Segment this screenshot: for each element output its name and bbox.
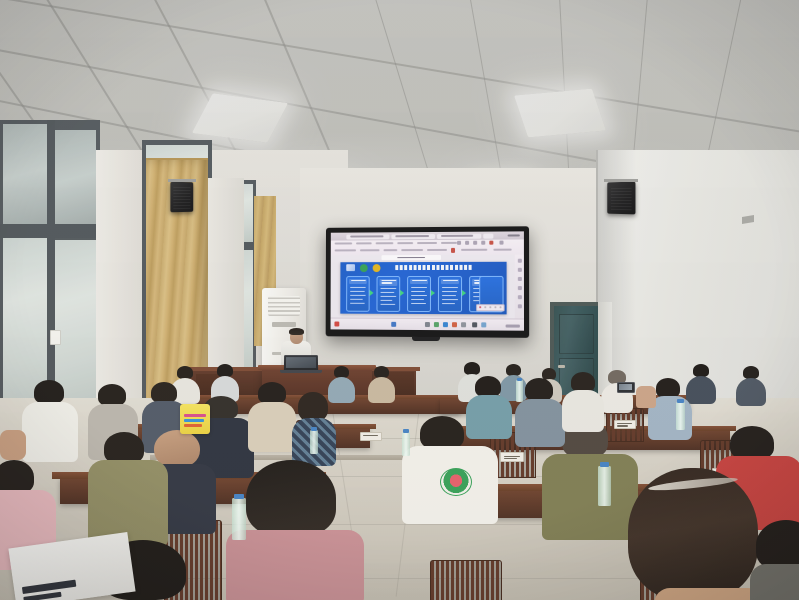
ribbon-icon-5[interactable]	[499, 241, 503, 245]
ribbon-icon-record[interactable]	[489, 241, 493, 245]
flow-arrow-1-icon	[370, 290, 374, 296]
bottle-cap-6	[311, 427, 317, 431]
panel-icon-1[interactable]	[517, 259, 521, 263]
water-bottle-2	[676, 402, 685, 430]
ribbon-icon-3[interactable]	[473, 241, 477, 245]
bottle-cap-4	[234, 494, 244, 499]
door-handle[interactable]	[558, 365, 565, 368]
speaker-bracket-right	[604, 179, 638, 182]
presentation-slide[interactable]	[340, 262, 506, 315]
hand-left-raised	[0, 430, 26, 460]
wall-speaker-right	[607, 182, 635, 215]
taskbar-icon-app3[interactable]	[443, 322, 448, 327]
os-taskbar[interactable]	[331, 318, 524, 331]
taskbar-icon-app4[interactable]	[452, 322, 457, 327]
taskbar-icon-app6[interactable]	[472, 322, 477, 327]
water-bottle-3	[516, 380, 523, 402]
bottle-cap-2	[677, 399, 684, 403]
chair-label-plate-2	[500, 452, 524, 462]
ribbon-icon-highlight[interactable]	[451, 248, 455, 253]
hand-holding-phone	[636, 386, 656, 408]
ac-vent-louvers	[268, 296, 300, 316]
led-wall-display[interactable]	[326, 226, 529, 338]
wall-pillar-left	[96, 150, 142, 400]
display-mount	[412, 337, 440, 341]
shirt-logo-icon	[440, 468, 472, 496]
side-panel[interactable]	[515, 255, 524, 319]
bottle-cap-3	[517, 378, 522, 381]
taskbar-icon-app1[interactable]	[425, 322, 430, 327]
tab-1[interactable]	[346, 234, 389, 239]
water-bottle-4	[232, 498, 246, 540]
presenter-laptop[interactable]	[284, 355, 318, 371]
flow-box-1	[346, 276, 370, 312]
ribbon-toolbar[interactable]	[331, 239, 524, 255]
window-wall-left	[0, 120, 100, 420]
water-bottle-1	[598, 466, 611, 506]
light-switch[interactable]	[50, 330, 61, 345]
flow-box-3	[407, 276, 431, 312]
presenter-hair	[289, 328, 304, 335]
lecture-room-photo	[0, 0, 799, 600]
ribbon-icon-4[interactable]	[481, 241, 485, 245]
panel-icon-4[interactable]	[517, 286, 521, 290]
system-tray[interactable]	[506, 325, 520, 328]
panel-icon-5[interactable]	[517, 295, 521, 299]
ribbon-icon-1[interactable]	[457, 241, 461, 245]
taskbar-icon-app5[interactable]	[461, 322, 466, 327]
flow-box-2	[376, 276, 400, 312]
bottle-cap-5	[403, 429, 409, 433]
logo-3-icon	[373, 264, 381, 272]
slide-header	[340, 262, 506, 273]
speaker-bracket-left	[168, 179, 196, 182]
flow-arrow-4-icon	[462, 290, 466, 296]
start-button-icon[interactable]	[334, 322, 339, 327]
chair-back-5	[430, 560, 502, 600]
smartphone-screen	[619, 384, 632, 390]
ac-control-panel[interactable]	[272, 322, 296, 327]
logo-1-icon	[346, 264, 355, 271]
chair-label-plate-4	[614, 420, 636, 429]
tab-new[interactable]	[483, 233, 493, 238]
slide-navigation-popup[interactable]	[476, 304, 504, 311]
slide-title-text	[395, 264, 473, 269]
laptop-keyboard-base[interactable]	[280, 370, 322, 373]
ribbon-icon-2[interactable]	[465, 241, 469, 245]
water-bottle-6	[310, 430, 318, 454]
slide-title-textbox[interactable]	[381, 255, 440, 260]
display-screen[interactable]	[331, 231, 524, 330]
logo-2-icon	[360, 264, 368, 272]
bottle-cap-1	[600, 462, 609, 467]
chair-label-plate-6	[360, 432, 382, 441]
flow-arrow-2-icon	[400, 290, 404, 296]
taskbar-icon-app2[interactable]	[434, 322, 439, 327]
tab-2[interactable]	[391, 233, 435, 238]
panel-icon-2[interactable]	[517, 268, 521, 272]
flow-arrow-3-icon	[431, 290, 435, 296]
taskbar-icon-explorer[interactable]	[391, 322, 396, 327]
flow-box-4	[438, 276, 462, 312]
slide-canvas-area[interactable]	[331, 255, 524, 319]
water-bottle-5	[402, 432, 410, 456]
yellow-tote-bag	[180, 404, 210, 434]
taskbar-icon-app7[interactable]	[481, 322, 486, 327]
wall-speaker-left	[170, 182, 193, 213]
panel-icon-6[interactable]	[517, 304, 521, 308]
tab-3[interactable]	[437, 233, 481, 238]
panel-icon-3[interactable]	[517, 277, 521, 281]
window-controls[interactable]	[508, 234, 520, 236]
